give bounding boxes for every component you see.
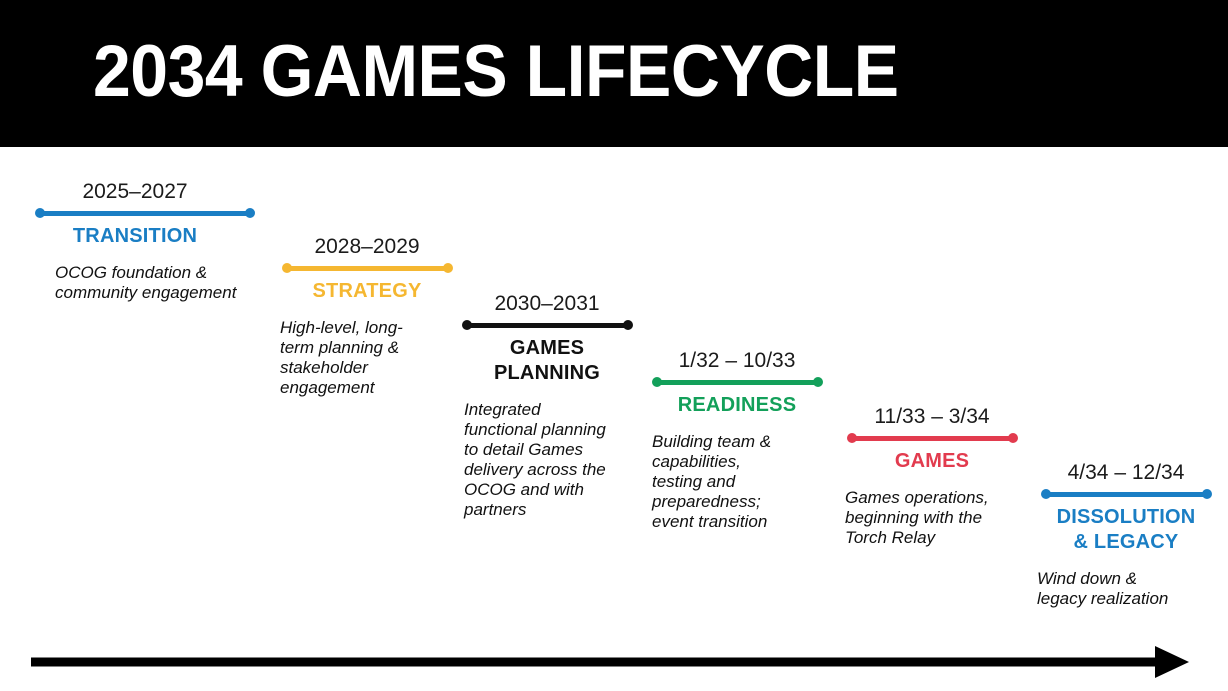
phase-bar-end-dot (1008, 433, 1018, 443)
phase-label: TRANSITION (25, 224, 245, 249)
phase-label: GAMES PLANNING (442, 336, 652, 386)
phase-bar (1041, 489, 1212, 499)
timeline-phase-readiness[interactable]: 1/32 – 10/33 READINESS Building team & c… (632, 349, 842, 532)
phase-bar-line (1046, 492, 1207, 497)
timeline-container: 2025–2027 TRANSITION OCOG foundation & c… (0, 147, 1228, 691)
phase-date: 2028–2029 (262, 235, 472, 259)
phase-bar-end-dot (1202, 489, 1212, 499)
phase-bar-line (467, 323, 628, 328)
header-bar: 2034 GAMES LIFECYCLE (0, 0, 1228, 147)
time-direction-arrow-icon (0, 636, 1228, 688)
phase-description: Building team & capabilities, testing an… (652, 432, 792, 532)
phase-date: 2030–2031 (442, 292, 652, 316)
timeline-phase-transition[interactable]: 2025–2027 TRANSITION OCOG foundation & c… (35, 180, 245, 303)
phase-description: Integrated functional planning to detail… (464, 400, 614, 520)
timeline-phase-strategy[interactable]: 2028–2029 STRATEGY High-level, long-term… (262, 235, 472, 398)
phase-bar (652, 377, 823, 387)
phase-label: GAMES (827, 449, 1037, 474)
phase-bar-line (852, 436, 1013, 441)
phase-description: Games operations, beginning with the Tor… (845, 488, 990, 548)
phase-bar-end-dot (623, 320, 633, 330)
phase-bar (35, 208, 255, 218)
timeline-phase-games[interactable]: 11/33 – 3/34 GAMES Games operations, beg… (827, 405, 1037, 548)
phase-bar (282, 263, 453, 273)
page-title: 2034 GAMES LIFECYCLE (93, 28, 899, 116)
phase-bar-end-dot (813, 377, 823, 387)
timeline-phase-dissolution-legacy[interactable]: 4/34 – 12/34 DISSOLUTION & LEGACY Wind d… (1021, 461, 1228, 609)
phase-description: High-level, long-term planning & stakeho… (280, 318, 415, 398)
phase-date: 4/34 – 12/34 (1021, 461, 1228, 485)
phase-description: OCOG foundation & community engagement (55, 263, 245, 303)
phase-bar (847, 433, 1018, 443)
phase-bar-line (657, 380, 818, 385)
phase-label: DISSOLUTION & LEGACY (1021, 505, 1228, 555)
phase-date: 2025–2027 (25, 180, 245, 204)
timeline-phase-games-planning[interactable]: 2030–2031 GAMES PLANNING Integrated func… (442, 292, 652, 520)
phase-bar (462, 320, 633, 330)
phase-description: Wind down & legacy realization (1037, 569, 1182, 609)
phase-date: 11/33 – 3/34 (827, 405, 1037, 429)
phase-label: READINESS (632, 393, 842, 418)
phase-label: STRATEGY (262, 279, 472, 304)
phase-bar-end-dot (443, 263, 453, 273)
phase-bar-line (287, 266, 448, 271)
phase-bar-end-dot (245, 208, 255, 218)
phase-bar-line (40, 211, 250, 216)
phase-date: 1/32 – 10/33 (632, 349, 842, 373)
